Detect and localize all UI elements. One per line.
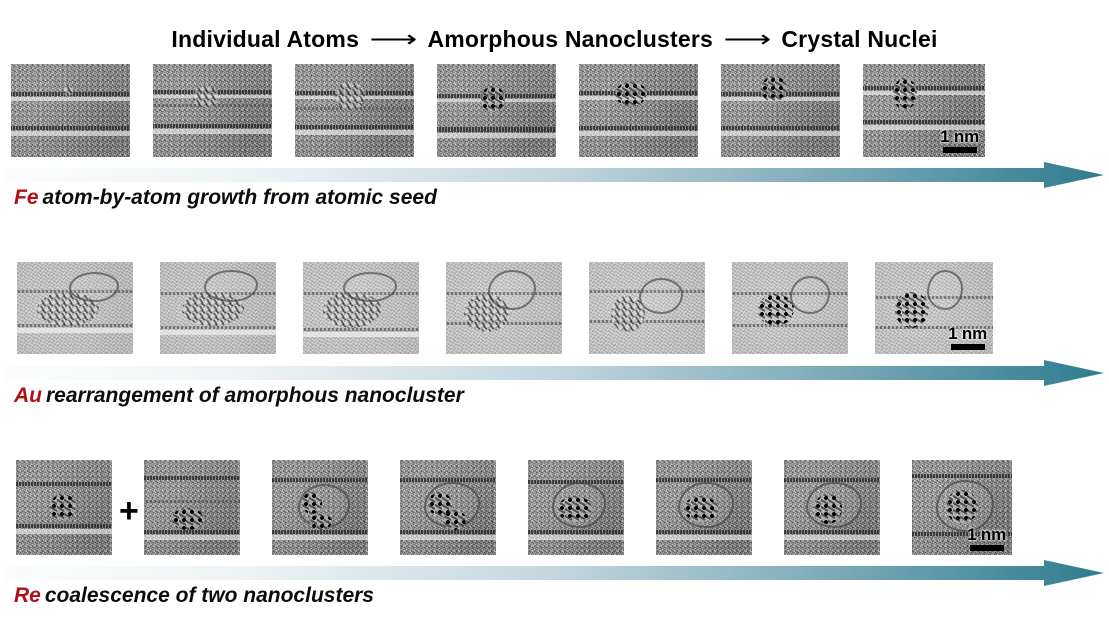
nanotube-wall [303,328,419,331]
tem-panel[interactable] [160,262,276,354]
nanotube-wall [912,474,1012,478]
tem-panel[interactable] [400,460,496,555]
tem-panel-strip-fe: 1 nm [0,64,1109,160]
tem-noise-texture [579,64,698,157]
sequence-row-fe: 1 nm Featom-by-atom growth from atomic s… [0,64,1109,194]
nanotube-halo [153,129,272,134]
tem-panel[interactable] [579,64,698,157]
nanotube-wall [144,530,240,534]
element-symbol-fe: Fe [14,186,39,209]
row-caption-re: Recoalescence of two nanoclusters [14,584,374,608]
sequence-row-au: 1 nm Aurearrangement of amorphous nanocl… [0,262,1109,392]
tem-panel[interactable]: 1 nm [912,460,1012,555]
scale-bar-label: 1 nm [967,526,1006,544]
row-caption-fe: Featom-by-atom growth from atomic seed [14,186,437,210]
tem-panel[interactable] [528,460,624,555]
scale-bar: 1 nm [940,128,979,153]
nanotube-halo [144,535,240,540]
nanotube-halo [295,130,414,135]
title-stage-3: Crystal Nuclei [781,26,937,52]
tem-panel-strip-au: 1 nm [0,262,1109,358]
tem-panel[interactable] [11,64,130,157]
nanotube-halo [17,328,133,333]
nanotube-wall [437,127,556,132]
tem-noise-texture [295,64,414,157]
nanotube-halo [528,535,624,540]
nanotube-halo [784,535,880,540]
scale-bar: 1 nm [948,325,987,350]
nanotube-halo [400,535,496,540]
nanotube-wall [784,530,880,534]
tem-panel[interactable] [17,262,133,354]
tem-panel[interactable]: 1 nm [863,64,985,157]
title-stage-1: Individual Atoms [171,26,359,52]
scale-bar-label: 1 nm [940,128,979,146]
nanotube-wall [656,530,752,534]
nanotube-wall [863,86,985,90]
tem-panel[interactable] [437,64,556,157]
element-symbol-re: Re [14,584,41,607]
nanotube-wall [528,530,624,534]
scale-bar-line [943,147,977,153]
title-stage-2: Amorphous Nanoclusters [427,26,713,52]
tem-panel[interactable] [303,262,419,354]
progression-arrow [4,360,1104,386]
nanotube-wall [272,530,368,534]
tem-panel[interactable] [153,64,272,157]
tem-panel[interactable] [16,460,112,555]
nanotube-halo [579,131,698,136]
sequence-row-re: + [0,460,1109,590]
progression-arrow [4,560,1104,586]
nanotube-wall [272,478,368,482]
nanotube-wall [16,524,112,528]
tem-panel[interactable] [295,64,414,157]
row-caption-au: Aurearrangement of amorphous nanocluster [14,384,464,408]
nanotube-wall [144,476,240,480]
tem-panel[interactable] [144,460,240,555]
tem-panel[interactable] [721,64,840,157]
tem-panel[interactable]: 1 nm [875,262,993,354]
nanotube-halo [160,330,276,335]
scale-bar-line [970,545,1004,551]
nanotube-wall [863,120,985,124]
tem-panel[interactable] [732,262,848,354]
nanotube-halo [272,535,368,540]
nanotube-wall [400,530,496,534]
nanotube-halo [11,131,130,136]
nanotube-halo [437,133,556,138]
tem-panel[interactable] [656,460,752,555]
page-title: Individual Atoms ⟶ Amorphous Nanocluster… [0,26,1109,53]
caption-text-re: coalescence of two nanoclusters [45,584,374,607]
tem-noise-texture [11,64,130,157]
nanotube-halo [303,332,419,337]
tem-panel[interactable] [272,460,368,555]
tem-panel-strip-re: + [0,460,1109,556]
caption-text-fe: atom-by-atom growth from atomic seed [43,186,437,209]
nanotube-wall [295,125,414,129]
nanotube-halo [11,97,130,101]
nanotube-halo [863,91,985,95]
nanotube-wall [153,124,272,128]
caption-text-au: rearrangement of amorphous nanocluster [46,384,464,407]
tem-panel[interactable] [784,460,880,555]
nanotube-wall [732,324,848,327]
nanotube-halo [656,535,752,540]
element-symbol-au: Au [14,384,42,407]
nanotube-wall [579,126,698,130]
nanotube-wall [16,482,112,486]
nanotube-wall [721,126,840,130]
arrow-right-icon: ⟶ [369,26,417,53]
nanotube-wall [160,326,276,329]
arrow-right-icon: ⟶ [723,26,771,53]
tem-panel[interactable] [446,262,562,354]
nanotube-wall [11,126,130,130]
scale-bar-label: 1 nm [948,325,987,343]
nanotube-wall [144,500,240,503]
nanotube-wall [589,320,705,323]
progression-arrow [4,162,1104,188]
scale-bar-line [951,344,985,350]
nanotube-halo [16,529,112,534]
nanotube-halo [721,131,840,136]
scale-bar: 1 nm [967,526,1006,551]
plus-icon: + [119,494,139,528]
tem-panel[interactable] [589,262,705,354]
tem-noise-texture [153,64,272,157]
